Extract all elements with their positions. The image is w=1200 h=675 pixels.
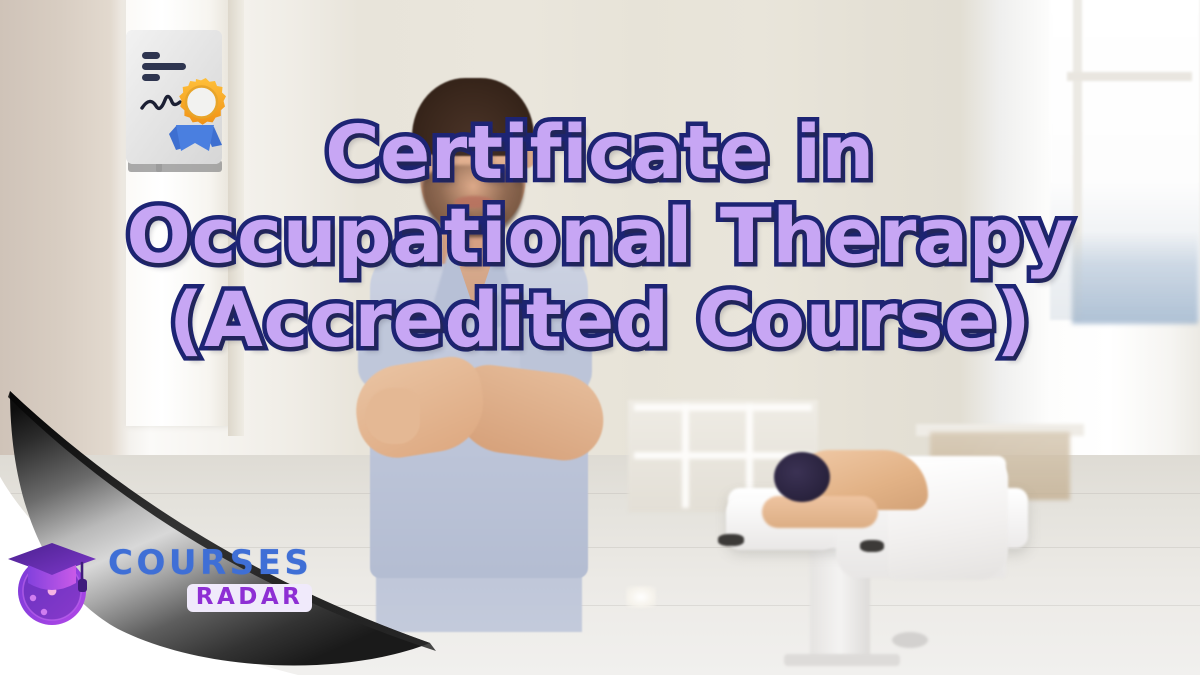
- brand-primary-word: COURSES: [108, 546, 312, 580]
- brand-wordmark: COURSES RADAR: [108, 546, 312, 612]
- course-banner: Certificate in Occupational Therapy (Acc…: [0, 0, 1200, 675]
- headline-line-3: (Accredited Course): [0, 281, 1200, 359]
- headline-line-1: Certificate in: [0, 116, 1200, 191]
- massage-table-scene: [700, 410, 1100, 675]
- page-title: Certificate in Occupational Therapy (Acc…: [0, 116, 1200, 359]
- graduation-cap-radar-logo-icon: [8, 527, 100, 631]
- headline-line-2: Occupational Therapy: [0, 197, 1200, 275]
- brand-logo[interactable]: COURSES RADAR: [8, 524, 278, 634]
- brand-secondary-word: RADAR: [196, 586, 304, 609]
- window-mullion-horizontal: [1067, 72, 1192, 81]
- brand-secondary-badge: RADAR: [187, 584, 313, 612]
